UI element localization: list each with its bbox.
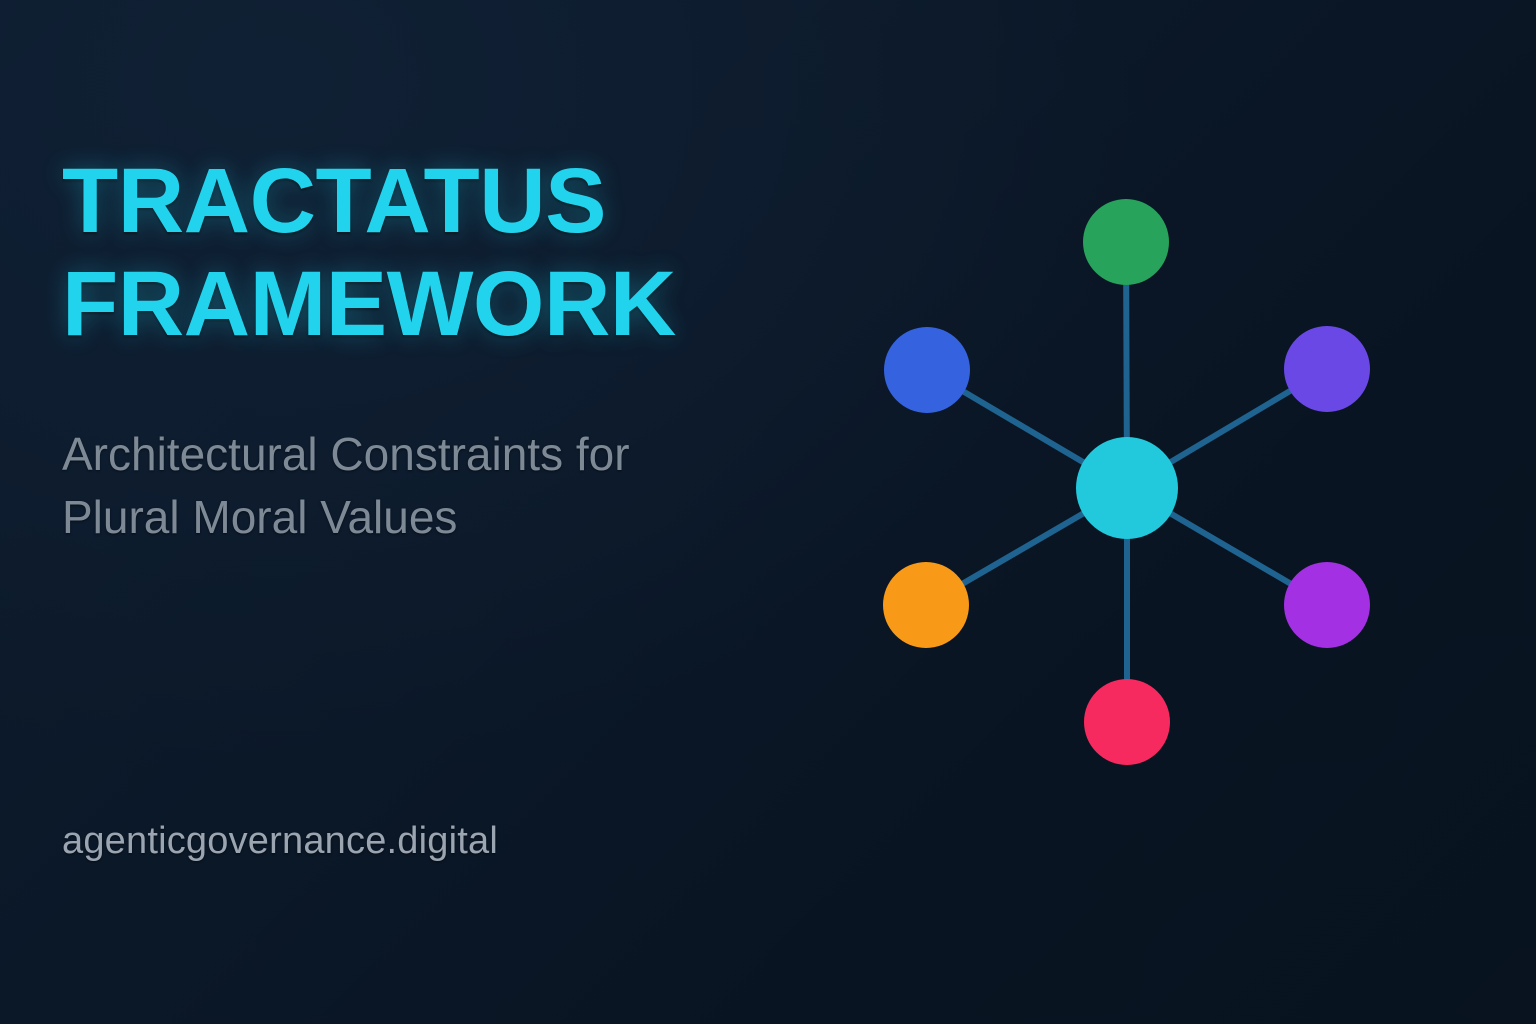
purple-node[interactable] [1284, 562, 1370, 648]
text-column: TRACTATUS FRAMEWORK Architectural Constr… [62, 0, 822, 1024]
green-node[interactable] [1083, 199, 1169, 285]
title-card-slide: TRACTATUS FRAMEWORK Architectural Constr… [0, 0, 1536, 1024]
orange-node[interactable] [883, 562, 969, 648]
pink-node[interactable] [1084, 679, 1170, 765]
site-url-label: agenticgovernance.digital [62, 820, 498, 863]
diagram-nodes [883, 199, 1370, 765]
page-title: TRACTATUS FRAMEWORK [62, 150, 802, 356]
node-diagram-svg [820, 120, 1500, 840]
node-diagram [820, 120, 1500, 840]
page-subtitle: Architectural Constraints for Plural Mor… [62, 423, 782, 549]
blue-node[interactable] [884, 327, 970, 413]
hub-node[interactable] [1076, 437, 1178, 539]
indigo-node[interactable] [1284, 326, 1370, 412]
